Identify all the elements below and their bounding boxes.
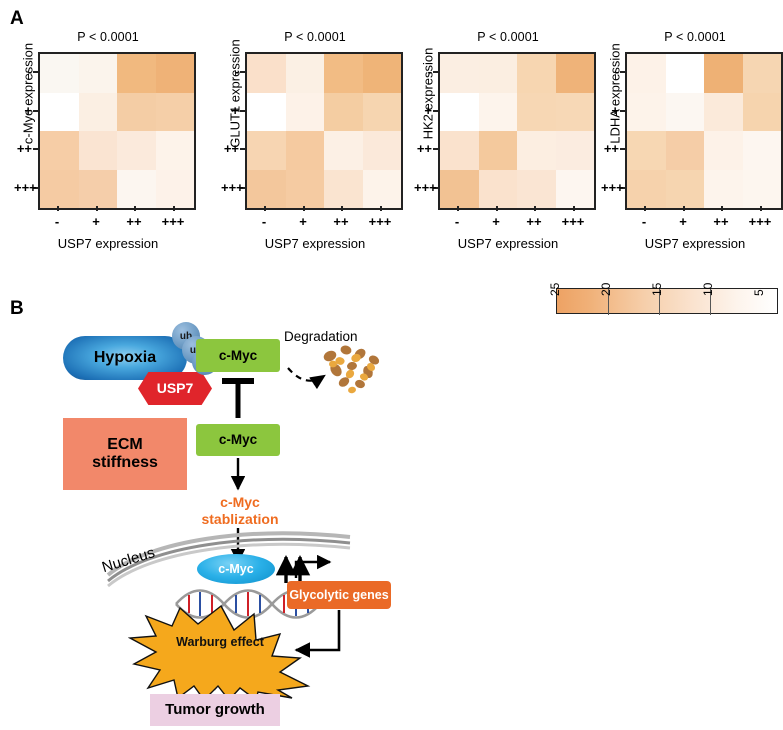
stabilization-line-2: stablization <box>160 511 320 528</box>
c-myc-nuclear-node[interactable]: c-Myc <box>197 554 275 584</box>
warburg-star-shape <box>128 604 314 700</box>
tumor-growth-node[interactable]: Tumor growth <box>150 694 280 726</box>
degradation-particles-icon <box>316 340 392 396</box>
glycolytic-genes-node[interactable]: Glycolytic genes <box>287 581 391 609</box>
c-myc-stabilization-label: c-Myc stablization <box>160 494 320 528</box>
c-myc-free-node[interactable]: c-Myc <box>196 424 280 456</box>
stabilization-line-1: c-Myc <box>160 494 320 511</box>
ecm-stiffness-node[interactable]: ECM stiffness <box>63 418 187 490</box>
ecm-line-2: stiffness <box>92 454 158 472</box>
usp7-node[interactable]: USP7 <box>138 372 212 405</box>
warburg-effect-label: Warburg effect <box>150 635 290 649</box>
ecm-line-1: ECM <box>92 436 158 454</box>
c-myc-ubiquitinated-node[interactable]: c-Myc <box>196 339 280 372</box>
